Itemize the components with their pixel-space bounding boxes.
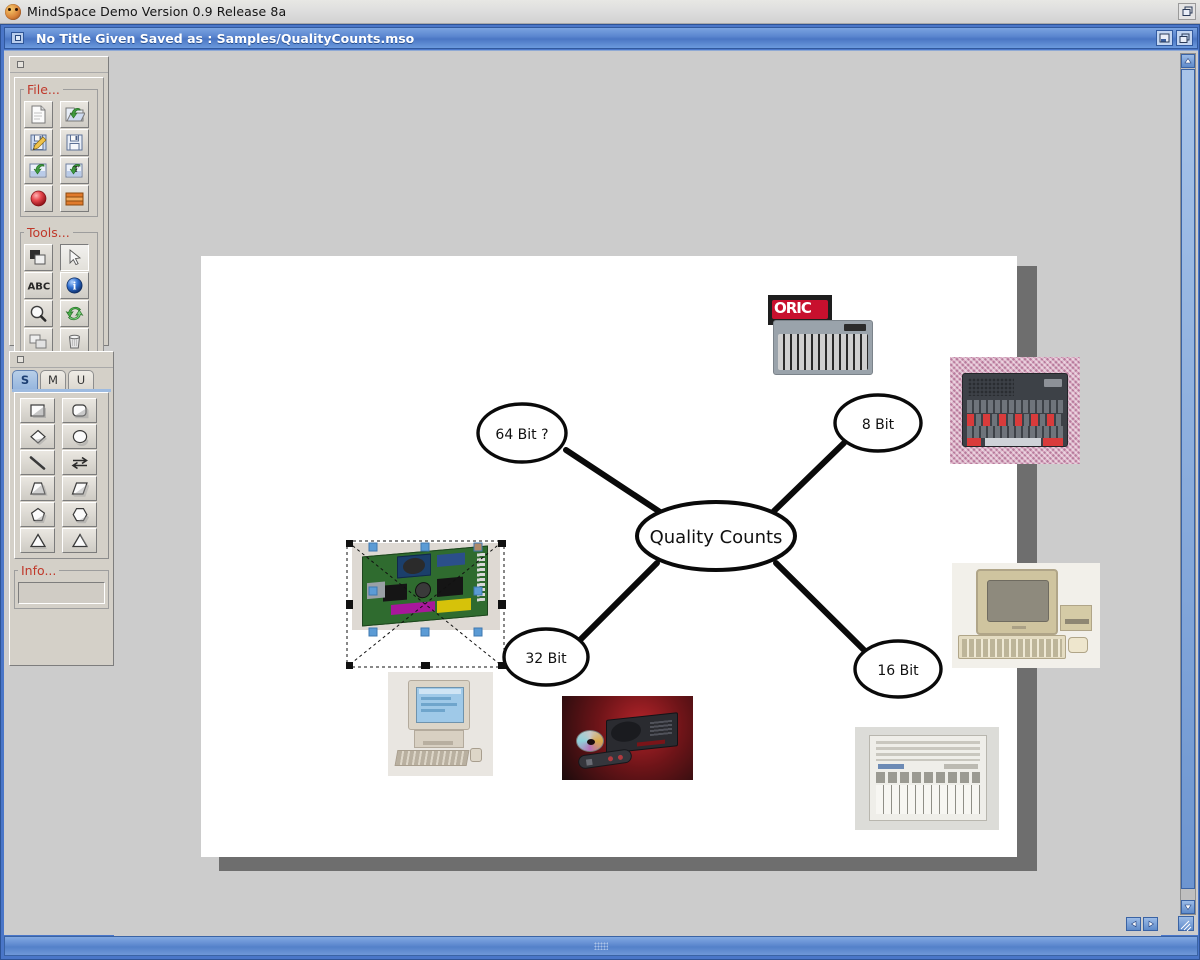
chevron-right-icon	[1147, 920, 1155, 928]
info-circle-icon: i	[64, 276, 85, 295]
arrow-cursor-icon	[64, 248, 85, 267]
svg-text:ABC: ABC	[28, 282, 51, 293]
green-refresh-icon	[64, 304, 85, 323]
tab-modify-label: M	[48, 373, 58, 387]
node-8-bit-label: 8 Bit	[862, 417, 895, 433]
statusbar-grip-icon[interactable]	[594, 942, 608, 950]
parallelogram-icon	[68, 480, 92, 498]
mindmap-graph: Quality Counts 64 Bit ? 8 Bit 32 Bit 16 …	[201, 256, 1017, 857]
triangle-outline-icon	[68, 532, 92, 550]
tools-button-grid: ABC	[24, 244, 94, 355]
shape-triangle[interactable]	[20, 528, 55, 553]
zoom-tool-button[interactable]	[24, 300, 53, 327]
tools-group: Tools...	[20, 225, 98, 360]
link-center-to-8-bit	[774, 443, 844, 511]
mindmap-canvas[interactable]: ORIC	[114, 51, 1161, 936]
application-window: MindSpace Demo Version 0.9 Release 8a No…	[0, 0, 1200, 960]
file-group: File...	[20, 82, 98, 217]
document-window: No Title Given Saved as : Samples/Qualit…	[0, 24, 1200, 960]
mindmap-nodes[interactable]: Quality Counts 64 Bit ? 8 Bit 32 Bit 16 …	[478, 395, 941, 697]
link-center-to-64-bit	[566, 450, 660, 512]
svg-text:i: i	[72, 282, 76, 293]
import-picture-icon	[28, 161, 49, 180]
document-maximize-button[interactable]	[1176, 30, 1193, 46]
import-text-button[interactable]: T	[60, 157, 89, 184]
window-resize-grip[interactable]	[1178, 916, 1194, 931]
scroll-down-button[interactable]	[1181, 900, 1195, 914]
pentagon-icon	[26, 506, 50, 524]
info-value-field[interactable]	[18, 582, 105, 604]
grip-icon	[1179, 919, 1193, 932]
tab-shapes[interactable]: S	[12, 370, 38, 389]
selection-handles-black[interactable]	[346, 540, 506, 669]
arrange-shapes-icon	[28, 332, 49, 351]
new-page-icon	[28, 105, 49, 124]
horizontal-scroll-buttons[interactable]	[1126, 917, 1158, 931]
rounded-rectangle-icon	[68, 402, 92, 420]
vertical-scrollbar[interactable]	[1180, 53, 1196, 915]
trash-can-icon	[64, 332, 85, 351]
tab-user[interactable]: U	[68, 370, 94, 389]
file-tools-panel: File...	[9, 56, 109, 346]
save-as-button[interactable]	[24, 129, 53, 156]
save-as-pencil-icon	[28, 133, 49, 152]
shape-trapezoid[interactable]	[20, 476, 55, 501]
open-document-button[interactable]	[60, 101, 89, 128]
print-button[interactable]	[60, 185, 89, 212]
selection-handles-blue[interactable]	[369, 543, 482, 636]
file-tools-panel-grip[interactable]	[10, 57, 108, 73]
shape-hexagon[interactable]	[62, 502, 97, 527]
minimize-window-icon	[1159, 33, 1170, 44]
shape-rounded-rectangle[interactable]	[62, 398, 97, 423]
open-folder-icon	[64, 105, 85, 124]
abc-text-icon: ABC	[26, 276, 51, 295]
image-selection-handles[interactable]	[346, 540, 506, 669]
new-document-button[interactable]	[24, 101, 53, 128]
shapes-panel: S M U	[9, 351, 114, 666]
duplicate-tool-button[interactable]	[24, 244, 53, 271]
import-image-button[interactable]	[24, 157, 53, 184]
shapes-panel-grip[interactable]	[10, 352, 113, 368]
tab-user-label: U	[77, 373, 85, 387]
application-title: MindSpace Demo Version 0.9 Release 8a	[27, 4, 286, 19]
document-minimize-button[interactable]	[1156, 30, 1173, 46]
ellipse-icon	[68, 428, 92, 446]
shapes-grid-container	[14, 392, 109, 559]
document-client-area: File...	[4, 50, 1198, 935]
document-system-menu-button[interactable]	[11, 32, 24, 44]
svg-text:T: T	[73, 165, 79, 174]
shape-rectangle[interactable]	[20, 398, 55, 423]
shape-line[interactable]	[20, 450, 55, 475]
node-64-bit-label: 64 Bit ?	[495, 427, 548, 443]
chevron-left-icon	[1130, 920, 1138, 928]
save-button[interactable]	[60, 129, 89, 156]
info-group-legend: Info...	[18, 563, 59, 578]
document-title: No Title Given Saved as : Samples/Qualit…	[36, 31, 414, 46]
select-tool-button[interactable]	[60, 244, 89, 271]
double-arrow-icon	[68, 454, 92, 472]
print-stack-icon	[64, 189, 85, 208]
red-sphere-icon	[28, 189, 49, 208]
floppy-disk-icon	[64, 133, 85, 152]
file-group-legend: File...	[24, 82, 63, 97]
tab-shapes-label: S	[21, 373, 29, 387]
import-text-icon: T	[64, 161, 85, 180]
trapezoid-icon	[26, 480, 50, 498]
scroll-left-button[interactable]	[1126, 917, 1141, 931]
application-titlebar: MindSpace Demo Version 0.9 Release 8a	[0, 0, 1200, 24]
chevron-up-icon	[1184, 57, 1192, 65]
file-button-grid: T	[24, 101, 94, 212]
rectangle-icon	[26, 402, 50, 420]
shape-pentagon[interactable]	[20, 502, 55, 527]
mindmap-page[interactable]: ORIC	[201, 256, 1017, 857]
shape-parallelogram[interactable]	[62, 476, 97, 501]
restore-window-icon	[1182, 6, 1193, 17]
line-icon	[26, 454, 50, 472]
diamond-icon	[26, 428, 50, 446]
vertical-scroll-thumb[interactable]	[1181, 69, 1195, 889]
scroll-right-button[interactable]	[1143, 917, 1158, 931]
record-button[interactable]	[24, 185, 53, 212]
shape-diamond[interactable]	[20, 424, 55, 449]
shape-ellipse[interactable]	[62, 424, 97, 449]
chevron-down-icon	[1184, 903, 1192, 911]
shapes-panel-tabs: S M U	[10, 368, 113, 389]
app-restore-button[interactable]	[1178, 3, 1196, 20]
app-logo-icon	[5, 4, 21, 20]
document-statusbar	[4, 936, 1198, 956]
magnifier-icon	[28, 304, 49, 323]
amiga-disk-drive	[1060, 605, 1092, 631]
triangle-icon	[26, 532, 50, 550]
document-window-buttons	[1156, 30, 1193, 46]
tools-group-legend: Tools...	[24, 225, 73, 240]
link-center-to-32-bit	[580, 563, 657, 640]
refresh-tool-button[interactable]	[60, 300, 89, 327]
copy-shapes-icon	[28, 248, 49, 267]
text-tool-button[interactable]: ABC	[24, 272, 53, 299]
maximize-window-icon	[1179, 33, 1190, 44]
shape-triangle-outline[interactable]	[62, 528, 97, 553]
file-tools-panel-body: File...	[14, 77, 104, 375]
tab-modify[interactable]: M	[40, 370, 66, 389]
node-32-bit-label: 32 Bit	[525, 651, 567, 667]
node-center-label: Quality Counts	[650, 527, 783, 548]
scroll-up-button[interactable]	[1181, 54, 1195, 68]
hexagon-icon	[68, 506, 92, 524]
amiga-mouse	[1068, 637, 1088, 653]
node-16-bit-label: 16 Bit	[877, 663, 919, 679]
link-center-to-16-bit	[776, 563, 866, 652]
document-titlebar[interactable]: No Title Given Saved as : Samples/Qualit…	[4, 27, 1198, 49]
info-group: Info...	[14, 563, 109, 609]
shape-double-arrow[interactable]	[62, 450, 97, 475]
shapes-grid	[20, 398, 103, 553]
info-tool-button[interactable]: i	[60, 272, 89, 299]
